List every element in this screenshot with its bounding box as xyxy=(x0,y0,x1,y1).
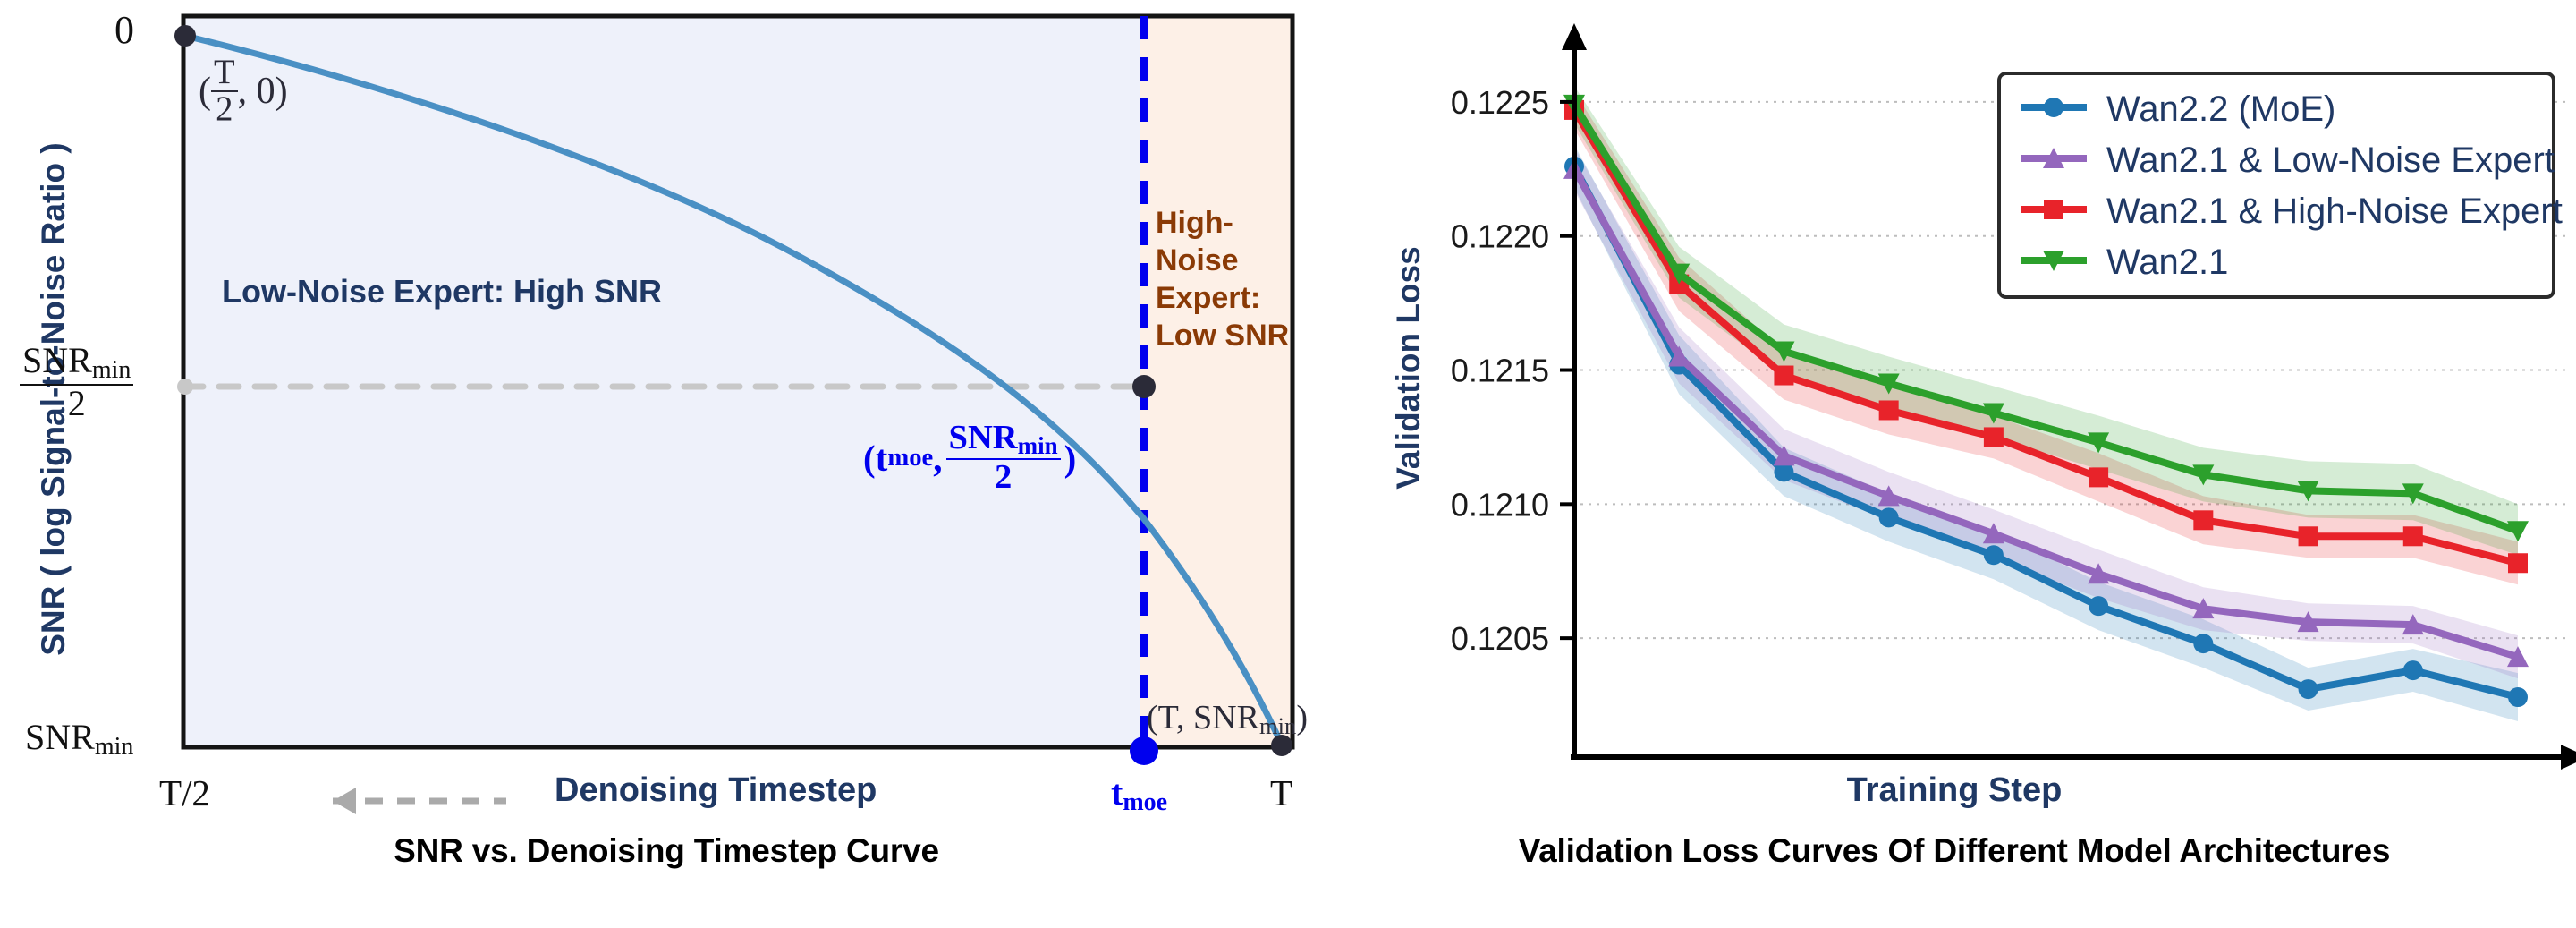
loss-data-point xyxy=(2044,98,2063,117)
point-origin-marker xyxy=(174,25,196,47)
loss-data-point xyxy=(2508,687,2528,707)
snr-ytick-half-numerator: SNRmin xyxy=(20,343,133,386)
high-noise-region-fill xyxy=(1140,16,1292,747)
snr-ytick-zero: 0 xyxy=(114,7,134,53)
annotation-origin-num: T xyxy=(211,55,238,92)
loss-ytick-label: 0.1205 xyxy=(1451,620,1549,657)
loss-data-point xyxy=(2403,660,2423,680)
loss-data-point xyxy=(2193,510,2213,530)
loss-ytick-label: 0.1210 xyxy=(1451,486,1549,523)
loss-data-point xyxy=(2403,526,2423,546)
loss-data-point xyxy=(2193,634,2213,653)
loss-data-point xyxy=(1774,366,1793,386)
region-label-low-noise: Low-Noise Expert: High SNR xyxy=(222,273,662,311)
snr-xtick-right: T xyxy=(1270,771,1292,814)
snr-ytick-half-denominator: 2 xyxy=(65,386,89,422)
annotation-tmoe-num: SNRmin xyxy=(946,421,1061,460)
loss-ytick-label: 0.1225 xyxy=(1451,84,1549,121)
annotation-end: (T, SNRmin) xyxy=(1147,698,1308,740)
loss-data-point xyxy=(2044,200,2063,219)
annotation-tmoe: (tmoe, SNRmin 2 ) xyxy=(863,421,1076,496)
loss-ytick-label: 0.1215 xyxy=(1451,353,1549,389)
snr-panel-caption: SNR vs. Denoising Timestep Curve xyxy=(0,832,1333,870)
snr-panel: SNR ( log Signal-to-Noise Ratio ) 0 SNRm… xyxy=(0,0,1333,928)
annotation-tmoe-den: 2 xyxy=(992,460,1014,495)
snr-ytick-min: SNRmin xyxy=(25,716,133,762)
loss-data-point xyxy=(2508,553,2528,573)
loss-data-point xyxy=(2299,526,2318,546)
annotation-origin: ( T 2 , 0) xyxy=(199,55,288,128)
snr-xtick-tmoe-sub: moe xyxy=(1123,788,1167,816)
snr-ytick-min-text: SNR xyxy=(25,717,95,757)
annotation-end-sub: min xyxy=(1259,712,1296,739)
legend-item-label[interactable]: Wan2.1 & High-Noise Expert xyxy=(2106,192,2563,231)
loss-panel: 0.12250.12200.12150.12100.1205 Wan2.2 (M… xyxy=(1333,0,2576,928)
loss-data-point xyxy=(2089,596,2108,616)
snr-ytick-min-sub: min xyxy=(95,733,134,761)
loss-x-axis-label: Training Step xyxy=(1333,771,2576,810)
annotation-origin-den: 2 xyxy=(213,92,235,127)
snr-ytick-half: SNRmin 2 xyxy=(20,343,133,422)
region-label-high-noise-line2: Noise xyxy=(1156,242,1289,279)
region-label-high-noise: High- Noise Expert: Low SNR xyxy=(1156,204,1289,355)
loss-panel-caption: Validation Loss Curves Of Different Mode… xyxy=(1333,832,2576,870)
snr-xtick-tmoe: tmoe xyxy=(1111,771,1167,817)
loss-y-axis-label-text: Validation Loss xyxy=(1390,246,1427,489)
region-label-high-noise-line3: Expert: xyxy=(1156,279,1289,317)
snr-xtick-left: T/2 xyxy=(159,771,210,814)
snr-x-axis-label: Denoising Timestep xyxy=(555,771,877,810)
region-label-high-noise-line4: Low SNR xyxy=(1156,317,1289,354)
legend-item-label[interactable]: Wan2.1 & Low-Noise Expert xyxy=(2106,140,2555,180)
denoising-direction-arrow xyxy=(333,788,506,814)
loss-data-point xyxy=(2299,679,2318,699)
loss-ytick-label: 0.1220 xyxy=(1451,218,1549,255)
snr-ytick-zero-text: 0 xyxy=(114,8,134,52)
two-panel-figure: SNR ( log Signal-to-Noise Ratio ) 0 SNRm… xyxy=(0,0,2576,928)
loss-data-point xyxy=(1984,427,2004,447)
legend-item-label[interactable]: Wan2.1 xyxy=(2106,243,2228,282)
loss-y-tick-labels: 0.12250.12200.12150.12100.1205 xyxy=(1451,84,1549,657)
point-tmoe-marker xyxy=(1132,375,1156,398)
loss-data-point xyxy=(1879,507,1899,527)
loss-y-axis-label: Validation Loss xyxy=(1390,207,1428,529)
loss-data-point xyxy=(1879,400,1899,420)
annotation-tmoe-sub: moe xyxy=(887,443,933,473)
loss-x-axis-label-text: Training Step xyxy=(1847,771,2063,809)
snr-half-axis-dot xyxy=(177,379,193,395)
loss-legend: Wan2.2 (MoE)Wan2.1 & Low-Noise ExpertWan… xyxy=(1999,73,2563,297)
loss-data-point xyxy=(2089,467,2108,487)
region-label-high-noise-line1: High- xyxy=(1156,204,1289,242)
legend-item-label[interactable]: Wan2.2 (MoE) xyxy=(2106,89,2335,129)
loss-data-point xyxy=(1984,545,2004,565)
tmoe-axis-dot xyxy=(1130,736,1158,765)
